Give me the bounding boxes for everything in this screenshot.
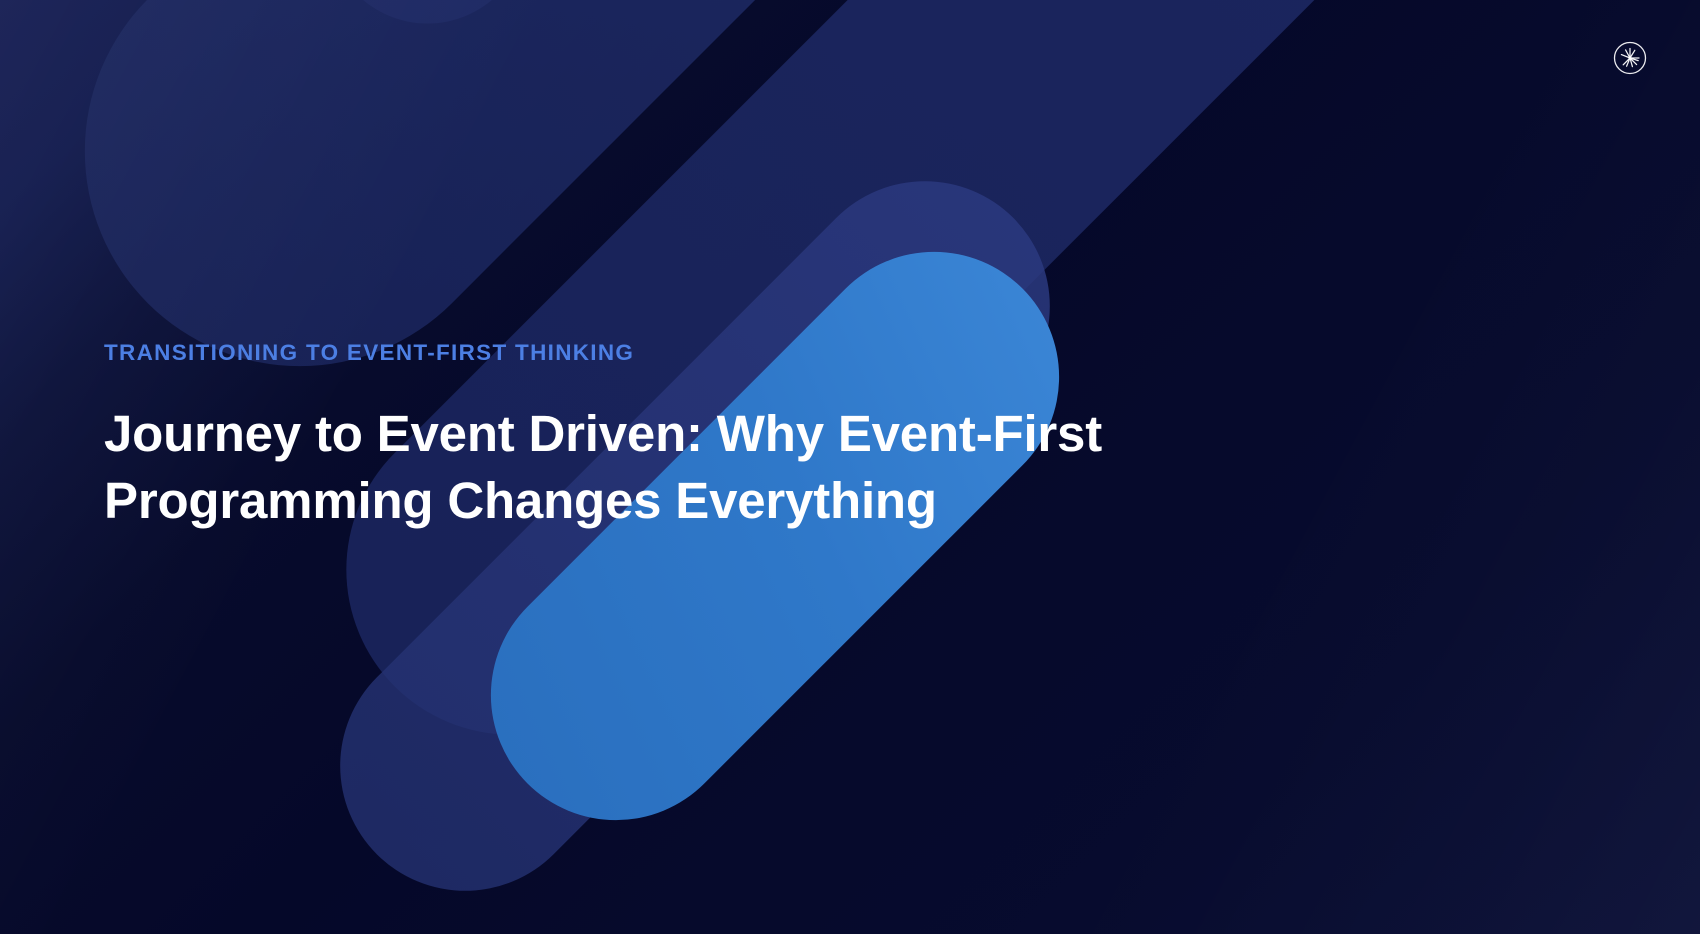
decorative-pill-navy-upper-right	[286, 0, 1064, 65]
hero-eyebrow: TRANSITIONING TO EVENT-FIRST THINKING	[104, 338, 1364, 367]
hero-banner: TRANSITIONING TO EVENT-FIRST THINKING Jo…	[0, 0, 1700, 934]
hero-content: TRANSITIONING TO EVENT-FIRST THINKING Jo…	[104, 338, 1364, 534]
starburst-circle-logo-icon[interactable]	[1608, 36, 1652, 80]
page-title: Journey to Event Driven: Why Event-First…	[104, 401, 1304, 534]
decorative-pill-blue-bottom-right	[439, 201, 1111, 873]
